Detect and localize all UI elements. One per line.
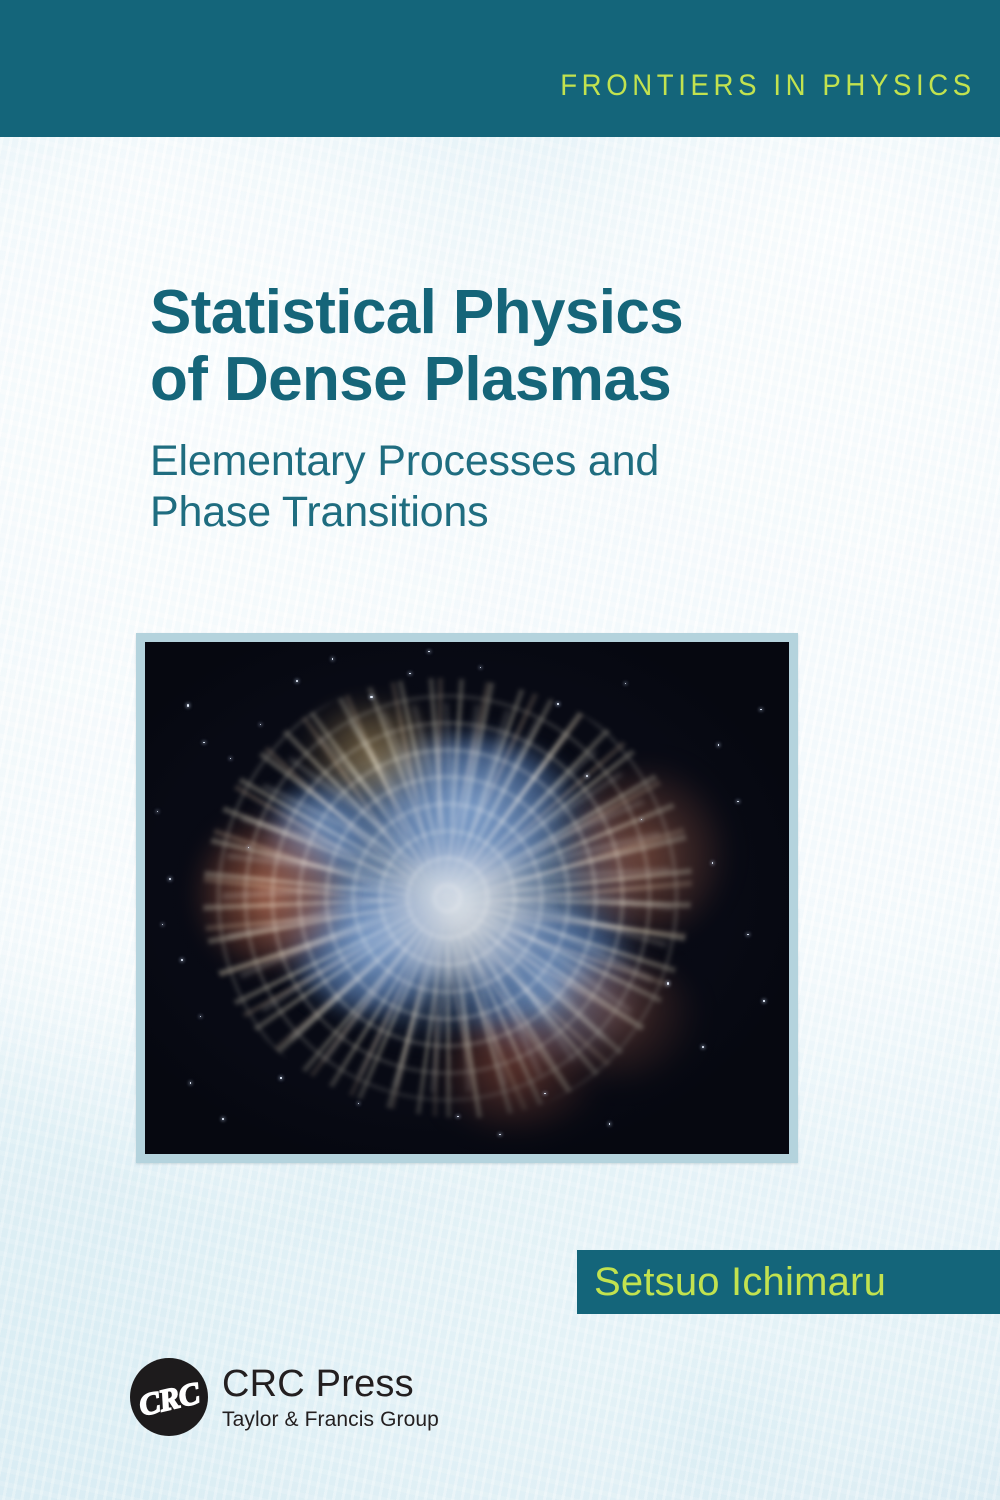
star: [747, 934, 749, 936]
star: [702, 1046, 704, 1048]
star: [260, 724, 261, 725]
star: [544, 1093, 546, 1095]
book-cover: FRONTIERS IN PHYSICS Statistical Physics…: [0, 0, 1000, 1500]
star: [609, 1123, 611, 1125]
star: [200, 1016, 201, 1017]
book-subtitle-line-2: Phase Transitions: [150, 487, 870, 538]
book-subtitle: Elementary Processes and Phase Transitio…: [150, 436, 870, 538]
star: [428, 651, 429, 652]
star: [718, 744, 719, 745]
book-title: Statistical Physics of Dense Plasmas: [150, 280, 870, 414]
star: [162, 924, 163, 925]
star: [737, 801, 738, 802]
star: [248, 847, 249, 848]
star: [181, 959, 183, 961]
star: [370, 696, 372, 698]
publisher-wordmark: CRC Press Taylor & Francis Group: [222, 1365, 439, 1430]
publisher-group: Taylor & Francis Group: [222, 1409, 439, 1430]
star: [409, 673, 411, 675]
author-band: Setsuo Ichimaru: [577, 1250, 1000, 1314]
book-title-line-2: of Dense Plasmas: [150, 347, 870, 414]
publisher-logo: CRC CRC Press Taylor & Francis Group: [130, 1358, 439, 1436]
star: [222, 1118, 224, 1120]
star: [760, 709, 762, 711]
star: [625, 683, 626, 684]
star: [667, 982, 669, 984]
book-subtitle-line-1: Elementary Processes and: [150, 436, 870, 487]
star: [712, 862, 714, 864]
star: [190, 1082, 191, 1083]
crc-roundel-icon: CRC: [130, 1358, 208, 1436]
star: [187, 704, 190, 707]
series-banner: FRONTIERS IN PHYSICS: [0, 0, 1000, 137]
star: [763, 1000, 764, 1001]
author-name: Setsuo Ichimaru: [577, 1262, 886, 1302]
star: [203, 742, 205, 744]
star: [332, 658, 333, 659]
star: [480, 667, 482, 669]
series-title: FRONTIERS IN PHYSICS: [560, 71, 1000, 137]
book-title-line-1: Statistical Physics: [150, 280, 870, 347]
star: [169, 878, 171, 880]
crc-monogram-text: CRC: [136, 1377, 202, 1421]
star: [499, 1134, 500, 1135]
star: [358, 1103, 360, 1105]
title-block: Statistical Physics of Dense Plasmas Ele…: [150, 280, 870, 538]
publisher-name: CRC Press: [222, 1365, 439, 1403]
star: [641, 819, 643, 821]
star: [586, 775, 588, 777]
star: [557, 703, 558, 704]
star: [280, 1077, 281, 1078]
star: [157, 811, 158, 812]
star: [457, 1116, 459, 1118]
star: [296, 680, 298, 682]
star: [230, 758, 231, 759]
cover-image-crab-nebula: [145, 642, 789, 1154]
cover-image-frame: [136, 633, 798, 1163]
starfield: [145, 642, 789, 1154]
